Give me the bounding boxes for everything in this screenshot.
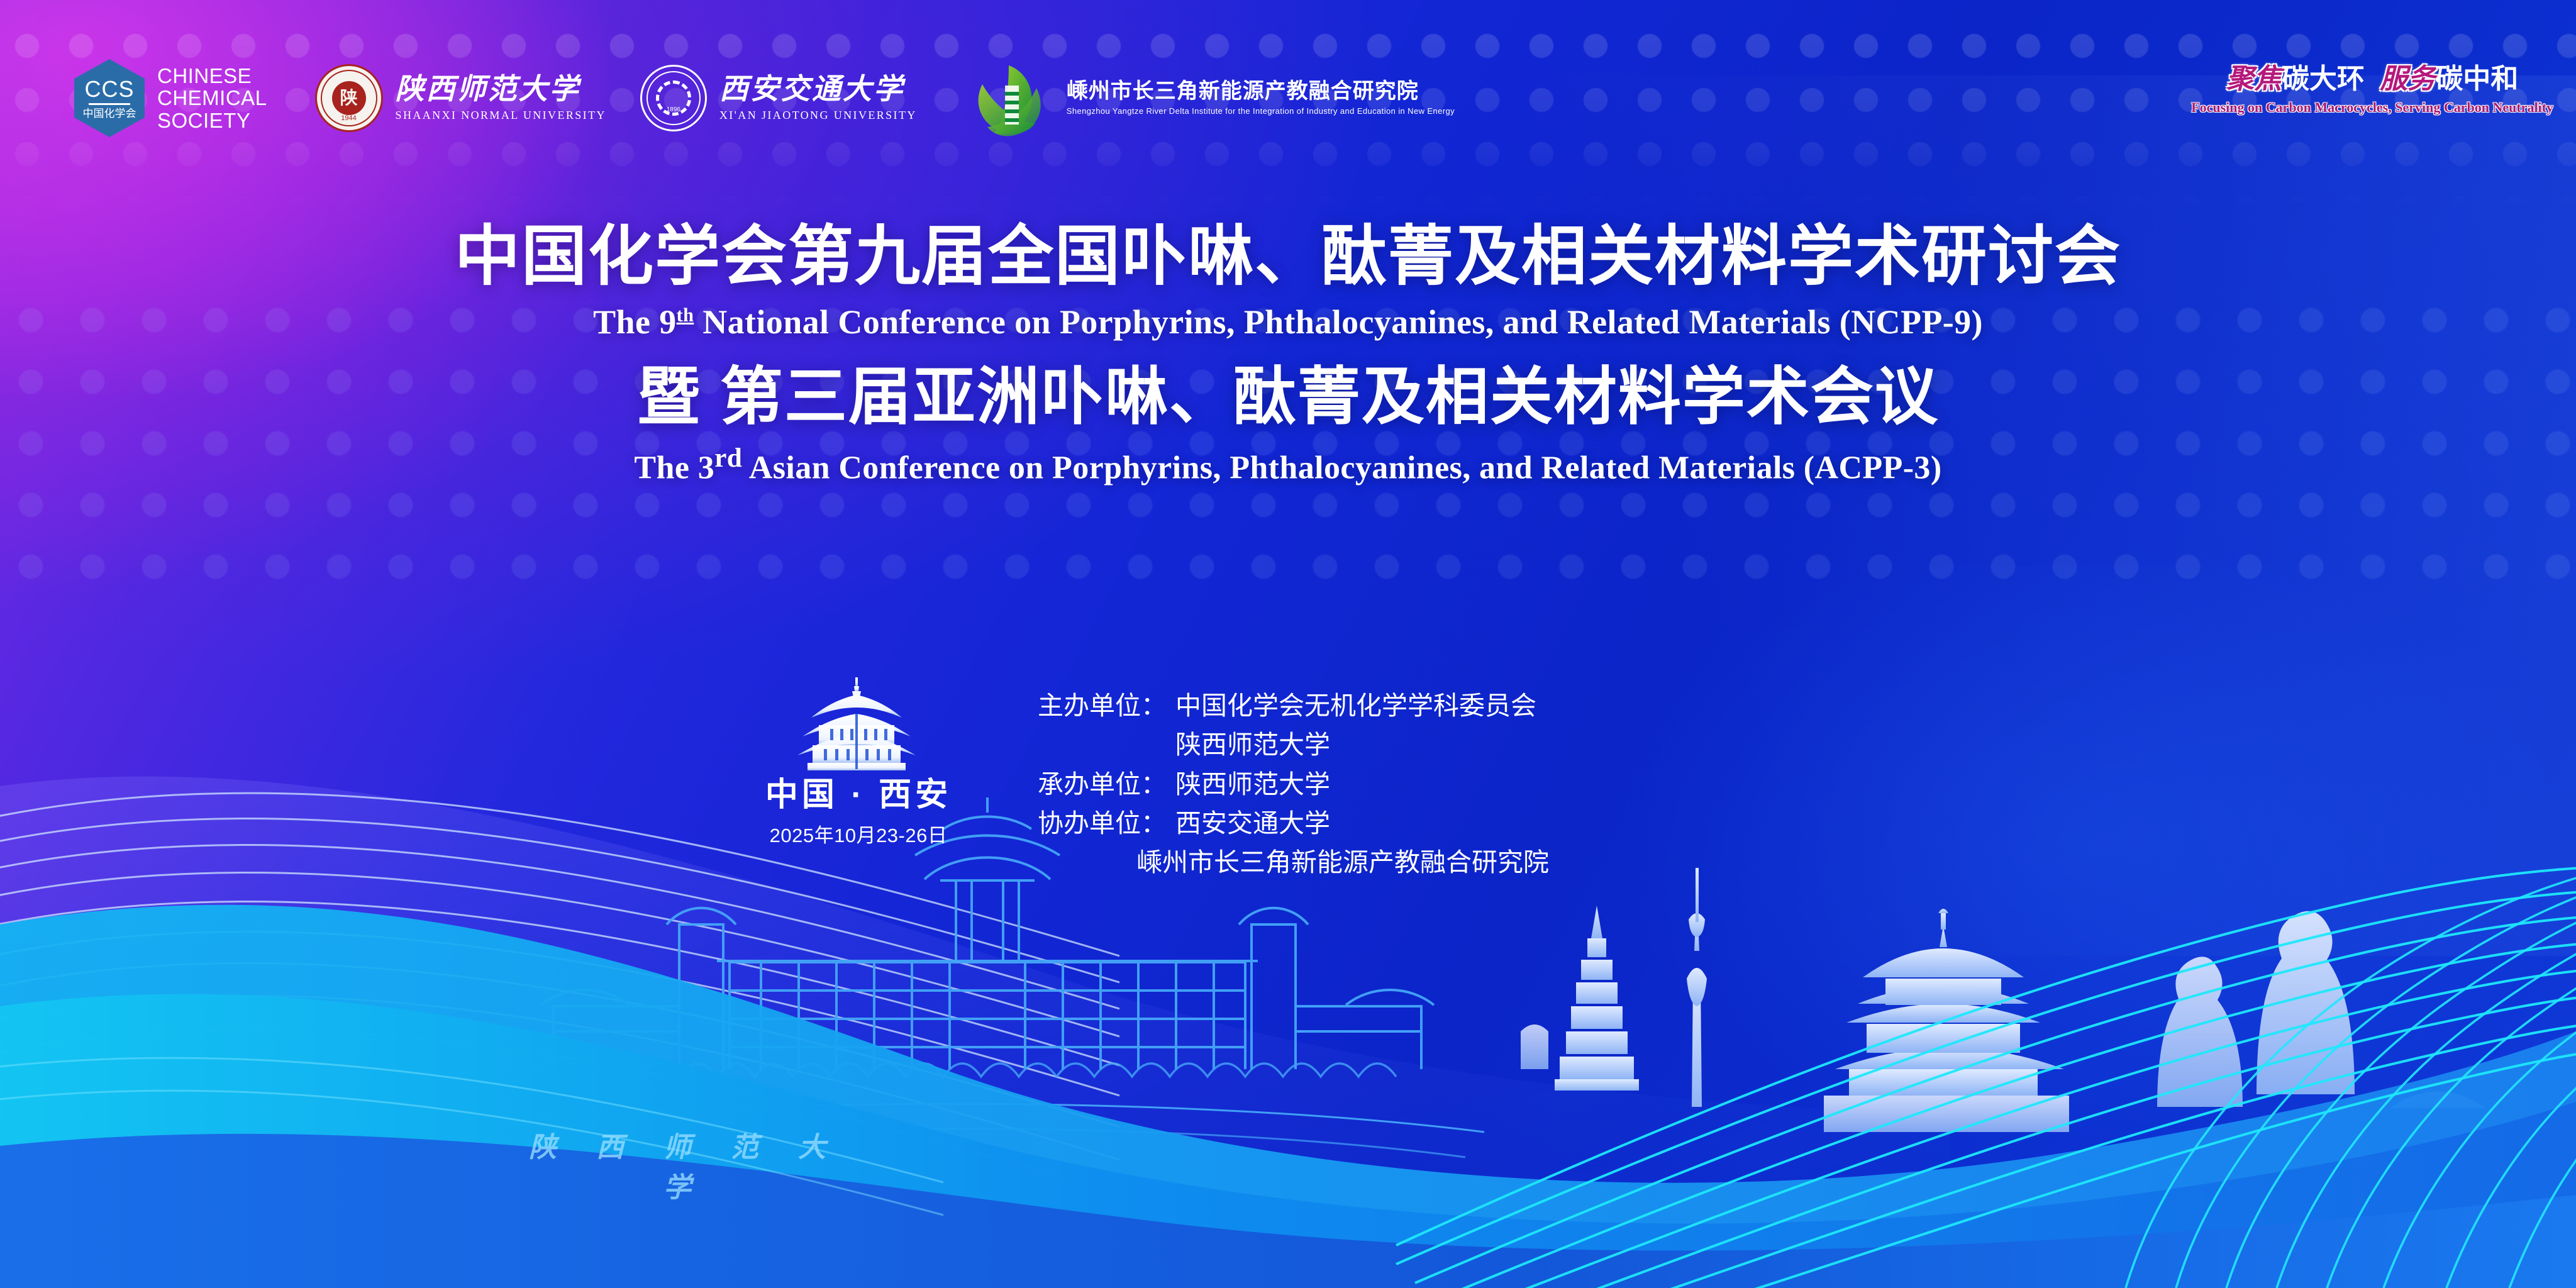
ccs-cn-name: 中国化学会: [83, 108, 136, 119]
organizer-label: 协办单位：: [1009, 804, 1167, 843]
campus-watermark-text: 陕 西 师 范 大 学: [509, 1124, 862, 1205]
slogan-cn: 聚焦碳大环 服务碳中和: [2191, 65, 2553, 93]
slogan-cn-part2-plain: 碳中和: [2435, 64, 2518, 94]
slogan-cn-part1-plain: 碳大环: [2282, 64, 2365, 94]
xjtu-cn-name: 西安交通大学: [719, 75, 917, 104]
title-en-sup: th: [677, 304, 694, 326]
conference-banner: 陕 西 师 范 大 学 CCS 中国化学会 CHINESE CHEMICAL S…: [0, 0, 2576, 1288]
ccs-en-line-1: CHINESE: [157, 65, 267, 87]
conference-title-en: The 9th National Conference on Porphyrin…: [0, 302, 2576, 343]
sheen-glow-lower-right: [1384, 566, 2576, 1258]
organizer-label: [1009, 843, 1128, 882]
organizer-value: 陕西师范大学: [1175, 725, 1330, 764]
ccs-en-name: CHINESE CHEMICAL SOCIETY: [157, 65, 267, 132]
ccs-hexagon-icon: CCS 中国化学会: [74, 59, 145, 137]
place-date: 2025年10月23-26日: [764, 819, 953, 848]
organizer-value: 中国化学会无机化学学科委员会: [1175, 686, 1536, 725]
place-block: 中国 · 西安 2025年10月23-26日: [764, 676, 953, 848]
shengzhou-leaf-placeholder: [996, 68, 1057, 128]
organizer-row: 主办单位： 中国化学会无机化学学科委员会: [1009, 686, 1549, 725]
ccs-abbr: CCS: [84, 78, 134, 101]
conference-subtitle-cn: 暨 第三届亚洲卟啉、酞菁及相关材料学术会议: [0, 362, 2576, 432]
snnu-cn-name: 陕西师范大学: [396, 75, 606, 104]
slogan-cn-part1-calligraphy: 聚焦: [2226, 64, 2282, 94]
title-block: 中国化学会第九届全国卟啉、酞菁及相关材料学术研讨会 The 9th Nation…: [0, 220, 2576, 488]
xjtu-en-name: XI'AN JIAOTONG UNIVERSITY: [719, 109, 917, 122]
xjtu-seal-year: 1896: [642, 106, 705, 113]
organizer-list: 主办单位： 中国化学会无机化学学科委员会 陕西师范大学 承办单位： 陕西师范大学…: [1009, 676, 1549, 882]
subtitle-en-pre: The 3: [634, 450, 714, 486]
conference-subtitle-en: The 3rd Asian Conference on Porphyrins, …: [0, 442, 2576, 488]
wave-cyan: [0, 905, 2576, 1288]
snnu-seal-icon: 陕 1944: [315, 64, 383, 132]
organizer-label: 承办单位：: [1009, 765, 1167, 804]
place-city: 中国 · 西安: [764, 777, 953, 813]
organizer-label: 主办单位：: [1009, 686, 1167, 725]
organizer-value: 陕西师范大学: [1175, 765, 1330, 804]
organizer-value: 西安交通大学: [1175, 804, 1330, 843]
title-en-post: National Conference on Porphyrins, Phtha…: [694, 303, 1983, 341]
cyan-mesh-ribbon-cross: [2126, 875, 2576, 1288]
organizer-label: [1009, 725, 1167, 764]
ccs-en-line-3: SOCIETY: [157, 109, 267, 132]
organizer-value: 嵊州市长三角新能源产教融合研究院: [1136, 843, 1549, 882]
logo-xian-jiaotong-university: 1896 西安交通大学 XI'AN JIAOTONG UNIVERSITY: [640, 65, 917, 131]
xian-bell-tower-icon: [786, 676, 931, 770]
xjtu-seal-icon: 1896: [640, 65, 707, 131]
snnu-en-name: SHAANXI NORMAL UNIVERSITY: [396, 109, 606, 122]
logo-shaanxi-normal-university: 陕 1944 陕西师范大学 SHAANXI NORMAL UNIVERSITY: [315, 64, 606, 132]
organizer-row: 协办单位： 西安交通大学: [1009, 804, 1549, 843]
logo-shengzhou-institute: 嵊州市长三角新能源产教融合研究院 Shengzhou Yangtze River…: [996, 68, 1455, 128]
cyan-mesh-ribbon: [1396, 867, 2576, 1288]
organizer-row: 陕西师范大学: [1009, 725, 1549, 764]
wave-blue: [0, 1134, 2576, 1288]
subtitle-en-post: Asian Conference on Porphyrins, Phthaloc…: [742, 450, 1941, 486]
subtitle-en-sup: rd: [714, 443, 742, 473]
ccs-en-line-2: CHEMICAL: [157, 87, 267, 109]
slogan-cn-part2-calligraphy: 服务: [2380, 64, 2435, 94]
shengzhou-cn-name: 嵊州市长三角新能源产教融合研究院: [1067, 80, 1455, 102]
snnu-seal-year: 1944: [317, 114, 381, 122]
organizer-row: 承办单位： 陕西师范大学: [1009, 765, 1549, 804]
sponsor-logo-bar: CCS 中国化学会 CHINESE CHEMICAL SOCIETY 陕 194…: [0, 60, 2576, 136]
xian-landmark-silhouettes: [1521, 868, 2485, 1245]
snnu-seal-char: 陕: [332, 81, 366, 115]
logo-chinese-chemical-society: CCS 中国化学会 CHINESE CHEMICAL SOCIETY: [74, 59, 267, 137]
wave-lightblue: [0, 994, 2576, 1288]
conference-title-cn: 中国化学会第九届全国卟啉、酞菁及相关材料学术研讨会: [0, 220, 2576, 293]
shengzhou-en-name: Shengzhou Yangtze River Delta Institute …: [1067, 106, 1455, 116]
ccs-divider: [89, 103, 130, 105]
slogan-en: Focusing on Carbon Macrocycles, Serving …: [2191, 99, 2553, 116]
conference-slogan: 聚焦碳大环 服务碳中和 Focusing on Carbon Macrocycl…: [2191, 65, 2553, 116]
title-en-pre: The 9: [593, 303, 677, 341]
organizer-row: 嵊州市长三角新能源产教融合研究院: [1009, 843, 1549, 882]
info-row: 中国 · 西安 2025年10月23-26日 主办单位： 中国化学会无机化学学科…: [764, 676, 1549, 882]
